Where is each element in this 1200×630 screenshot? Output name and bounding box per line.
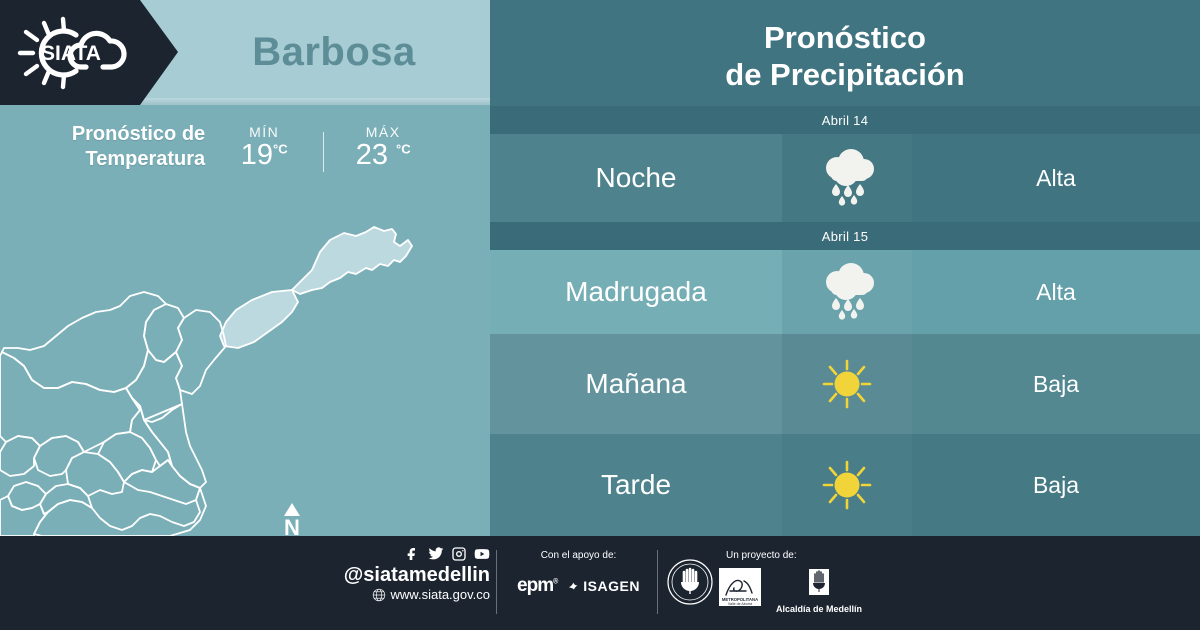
footer: @siatamedellin www.siata.gov.co Con el a… <box>0 536 1200 630</box>
temperature-min-label: MÍN <box>229 124 299 140</box>
udea-seal-logo[interactable] <box>666 558 714 606</box>
siata-logo-text: SIATA <box>41 42 101 65</box>
youtube-icon[interactable] <box>474 546 490 562</box>
right-panel: Pronóstico de Precipitación Abril 14 Noc… <box>490 0 1200 536</box>
social-block: @siatamedellin www.siata.gov.co <box>300 546 490 603</box>
forecast-period-label: Noche <box>490 134 782 222</box>
map-region-highlighted[interactable] <box>292 227 412 294</box>
epm-logo-text: epm <box>517 575 553 596</box>
temperature-min: MÍN 19°C <box>229 124 299 170</box>
date-label: Abril 14 <box>822 113 868 128</box>
sun-icon <box>815 354 879 414</box>
temperature-divider <box>323 132 324 172</box>
map-region[interactable] <box>130 398 182 466</box>
precipitation-title-line1: Pronóstico <box>764 20 926 57</box>
temperature-title-line2: Temperatura <box>72 147 205 172</box>
alcaldia-crest-icon <box>806 568 832 602</box>
forecast-row-noche[interactable]: Noche Alta <box>490 134 1200 222</box>
date-strip-abril-15: Abril 15 <box>490 222 1200 250</box>
area-metropolitana-icon: METROPOLITANA Valle de Aburrá <box>718 567 762 615</box>
map-region[interactable] <box>2 292 166 392</box>
footer-divider <box>657 550 658 614</box>
temperature-title: Pronóstico de Temperatura <box>72 122 205 172</box>
forecast-level-label: Baja <box>912 334 1200 434</box>
precipitation-title-line2: de Precipitación <box>725 57 964 94</box>
alcaldia-label: Alcaldía de Medellín <box>776 604 862 614</box>
project-logos: METROPOLITANA Valle de Aburrá Alcaldía d… <box>718 567 862 615</box>
isagen-mark-icon <box>567 579 581 593</box>
temperature-max-value-wrap: 23 °C <box>348 141 418 170</box>
forecast-row-manana[interactable]: Mañana Baja <box>490 334 1200 434</box>
map-region[interactable] <box>176 310 226 394</box>
map-region[interactable] <box>34 488 206 536</box>
globe-icon <box>372 588 386 602</box>
forecast-icon-cell <box>782 334 912 434</box>
forecast-icon-cell <box>782 134 912 222</box>
area-logo-line3: Valle de Aburrá <box>728 602 752 606</box>
city-name: Barbosa <box>178 0 490 105</box>
temperature-max: MÁX 23 °C <box>348 124 418 170</box>
forecast-icon-cell <box>782 434 912 536</box>
temperature-max-unit: °C <box>396 141 411 156</box>
date-label: Abril 15 <box>822 229 868 244</box>
map-svg <box>0 170 490 536</box>
social-handle[interactable]: @siatamedellin <box>300 564 490 587</box>
forecast-level-label: Alta <box>912 134 1200 222</box>
alcaldia-medellin-logo[interactable]: Alcaldía de Medellín <box>776 568 862 614</box>
project-block: Un proyecto de: METROPOLITANA Valle de A… <box>718 550 862 615</box>
rain-cloud-icon <box>815 148 879 208</box>
rain-cloud-icon <box>815 262 879 322</box>
facebook-icon[interactable] <box>405 546 421 562</box>
epm-logo[interactable]: epm® <box>517 575 557 597</box>
map-region[interactable] <box>40 484 92 514</box>
temperature-max-label: MÁX <box>348 124 418 140</box>
university-seal-icon <box>666 558 714 606</box>
twitter-icon[interactable] <box>428 546 444 562</box>
forecast-period-label: Mañana <box>490 334 782 434</box>
forecast-level-label: Alta <box>912 250 1200 334</box>
temperature-min-unit: °C <box>273 141 288 156</box>
forecast-row-madrugada[interactable]: Madrugada Alta <box>490 250 1200 334</box>
left-panel: SIATA Barbosa Pronóstico de Temperatura … <box>0 0 490 536</box>
precipitation-title: Pronóstico de Precipitación <box>490 8 1200 106</box>
date-strip-abril-14: Abril 14 <box>490 106 1200 134</box>
support-caption: Con el apoyo de: <box>506 550 651 561</box>
temperature-title-line1: Pronóstico de <box>72 122 205 147</box>
website-line[interactable]: www.siata.gov.co <box>300 587 490 603</box>
support-logos: epm® ISAGEN <box>506 575 651 597</box>
forecast-level-label: Baja <box>912 434 1200 536</box>
support-block: Con el apoyo de: epm® ISAGEN <box>506 550 651 597</box>
isagen-logo[interactable]: ISAGEN <box>567 578 640 594</box>
social-icons <box>300 546 490 562</box>
isagen-logo-text: ISAGEN <box>583 578 640 594</box>
temperature-max-value: 23 <box>356 139 388 171</box>
municipality-map[interactable]: N <box>0 170 490 536</box>
map-region[interactable] <box>66 452 124 496</box>
forecast-icon-cell <box>782 250 912 334</box>
temperature-min-value: 19 <box>241 139 273 171</box>
sun-cloud-icon: SIATA <box>14 15 132 91</box>
area-metropolitana-logo[interactable]: METROPOLITANA Valle de Aburrá <box>718 567 762 615</box>
sun-icon <box>815 455 879 515</box>
map-region[interactable] <box>124 460 200 504</box>
forecast-period-label: Madrugada <box>490 250 782 334</box>
temperature-min-value-wrap: 19°C <box>229 141 299 170</box>
project-caption: Un proyecto de: <box>726 550 862 561</box>
website-url: www.siata.gov.co <box>391 587 490 603</box>
map-region-highlighted-tail[interactable] <box>220 290 298 348</box>
weather-forecast-card: SIATA Barbosa Pronóstico de Temperatura … <box>0 0 1200 630</box>
instagram-icon[interactable] <box>451 546 467 562</box>
forecast-period-label: Tarde <box>490 434 782 536</box>
map-region[interactable] <box>0 352 140 452</box>
map-region[interactable] <box>126 350 206 488</box>
footer-divider <box>496 550 497 614</box>
forecast-row-tarde[interactable]: Tarde Baja <box>490 434 1200 536</box>
